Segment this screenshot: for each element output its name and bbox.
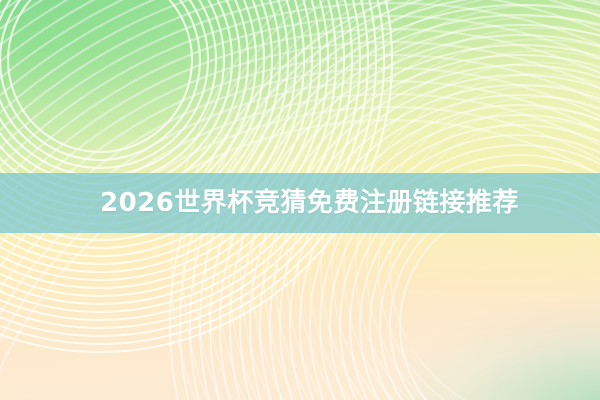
- banner-title: 2026世界杯竞猜免费注册链接推荐: [100, 190, 519, 216]
- title-band: 2026世界杯竞猜免费注册链接推荐: [0, 173, 600, 233]
- promo-banner-image: 2026世界杯竞猜免费注册链接推荐: [0, 0, 600, 400]
